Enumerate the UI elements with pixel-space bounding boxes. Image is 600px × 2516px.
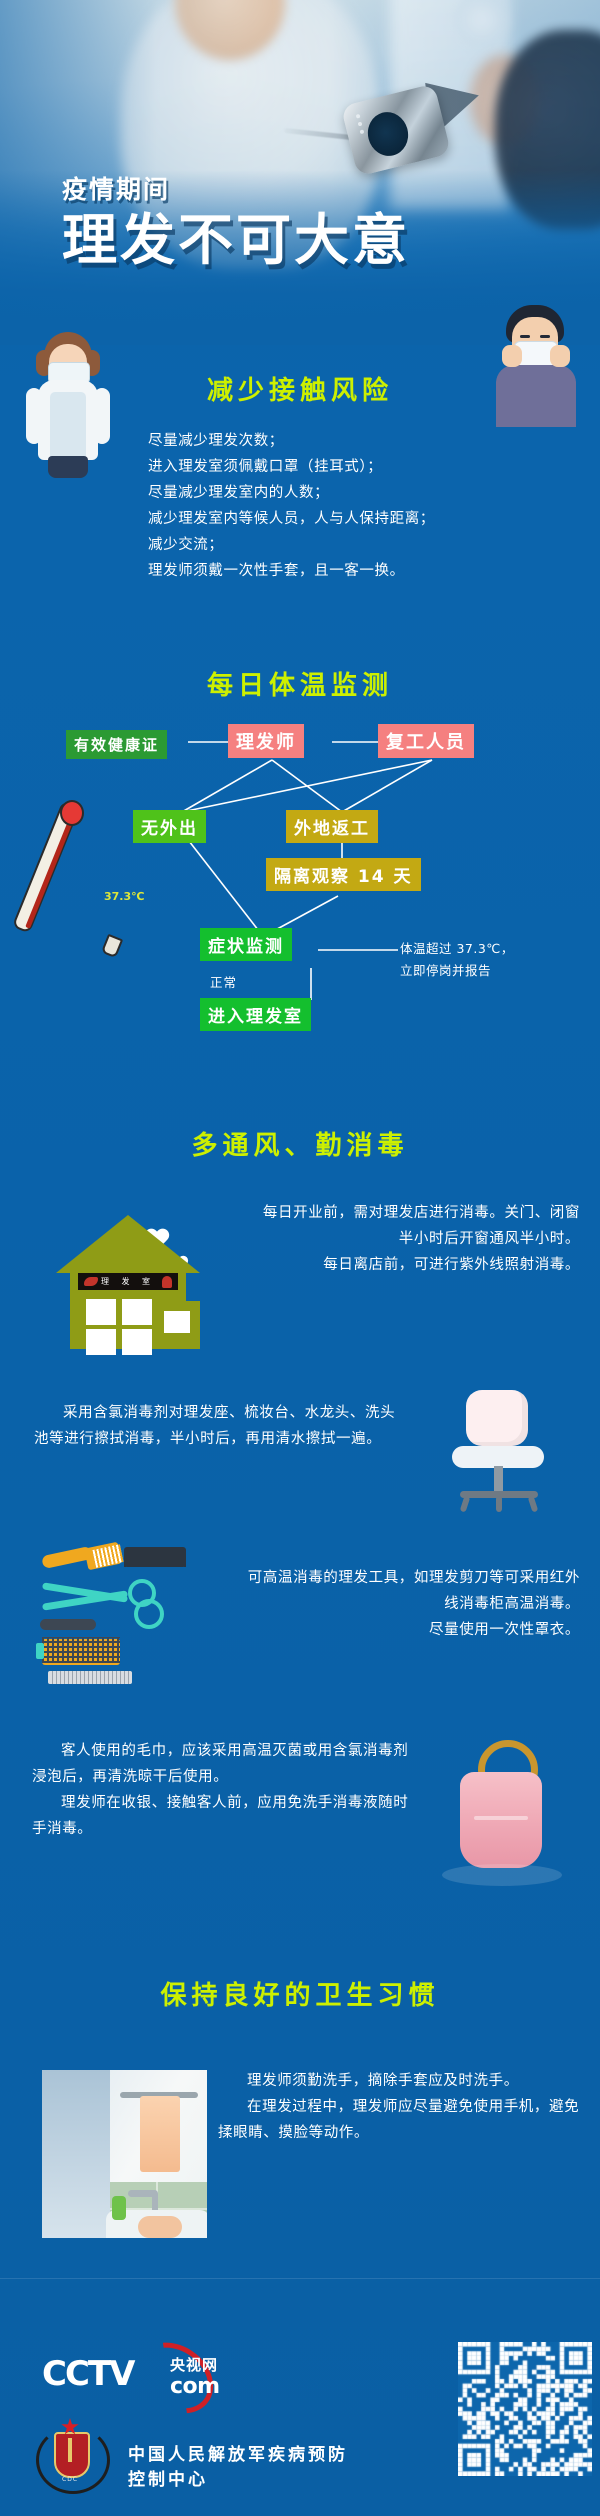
infographic-poster: 疫情期间 理发不可大意 减少接触风险 尽量减少理发次数； 进入理发室须佩戴口罩（… xyxy=(0,0,600,2516)
page-title: 理发不可大意 xyxy=(62,212,410,270)
temperature-flowchart: 有效健康证 理发师 复工人员 无外出 外地返工 隔离观察 14 天 症状监测 进… xyxy=(0,700,600,1020)
list-item: 理发师须戴一次性手套，且一客一换。 xyxy=(148,558,568,584)
section-heading-temperature: 每日体温监测 xyxy=(0,665,600,702)
list-item: 减少交流； xyxy=(148,532,568,558)
hygiene-paragraphs: 理发师须勤洗手，摘除手套应及时洗手。 在理发过程中，理发师应尽量避免使用手机，避… xyxy=(218,2068,580,2146)
reduce-contact-list: 尽量减少理发次数； 进入理发室须佩戴口罩（挂耳式）； 尽量减少理发室内的人数； … xyxy=(148,428,568,584)
man-wearing-mask-illustration xyxy=(488,305,584,425)
flow-node-barber: 理发师 xyxy=(228,724,304,758)
paragraph: 理发师在收银、接触客人前，应用免洗手消毒液随时手消毒。 xyxy=(32,1790,414,1842)
cctv-cn-label: 央视网 xyxy=(170,2354,218,2375)
cdc-emblem-icon: CDC xyxy=(34,2418,106,2492)
page-kicker: 疫情期间 xyxy=(62,170,410,206)
flow-node-enter-salon: 进入理发室 xyxy=(200,998,311,1031)
qr-code[interactable] xyxy=(458,2342,592,2476)
title-block: 疫情期间 理发不可大意 xyxy=(62,170,410,270)
list-item: 尽量减少理发次数； xyxy=(148,428,568,454)
footer-divider xyxy=(0,2278,600,2279)
list-item: 尽量减少理发室内的人数； xyxy=(148,480,568,506)
list-item: 进入理发室须佩戴口罩（挂耳式）； xyxy=(148,454,568,480)
flow-node-no-outing: 无外出 xyxy=(133,810,206,843)
flow-edge-label-normal: 正常 xyxy=(210,972,237,991)
list-item: 减少理发室内等候人员，人与人保持距离； xyxy=(148,506,568,532)
section-heading-reduce-contact: 减少接触风险 xyxy=(30,370,570,407)
disinfect-paragraph-2: 采用含氯消毒剂对理发座、梳妆台、水龙头、洗头池等进行擦拭消毒，半小时后，再用清水… xyxy=(34,1400,406,1452)
flow-node-quarantine-14-days: 隔离观察 14 天 xyxy=(266,858,421,891)
paragraph: 每日离店前，可进行紫外线照射消毒。 xyxy=(232,1252,580,1278)
handwashing-photo xyxy=(42,2070,207,2238)
flow-node-returnee: 复工人员 xyxy=(378,724,474,758)
paragraph: 理发师须勤洗手，摘除手套应及时洗手。 xyxy=(218,2068,580,2094)
flow-node-returned-from-elsewhere: 外地返工 xyxy=(286,810,378,843)
paragraph: 每日开业前，需对理发店进行消毒。关门、闭窗半小时后开窗通风半小时。 xyxy=(232,1200,580,1252)
section-heading-ventilate-disinfect: 多通风、勤消毒 xyxy=(0,1125,600,1162)
cdc-abbr: CDC xyxy=(54,2476,86,2483)
paragraph: 可高温消毒的理发工具，如理发剪刀等可采用红外线消毒柜高温消毒。 xyxy=(218,1565,580,1617)
paragraph: 尽量使用一次性罩衣。 xyxy=(218,1617,580,1643)
flow-node-cert: 有效健康证 xyxy=(66,730,167,759)
hero-banner: 疫情期间 理发不可大意 xyxy=(0,0,600,345)
disinfect-paragraph-1: 每日开业前，需对理发店进行消毒。关门、闭窗半小时后开窗通风半小时。 每日离店前，… xyxy=(232,1200,580,1278)
alert-note-line-1: 体温超过 37.3℃， xyxy=(400,938,580,960)
paragraph: 在理发过程中，理发师应尽量避免使用手机，避免揉眼睛、摸脸等动作。 xyxy=(218,2094,580,2146)
barbershop-house-icon: 理 发 室 xyxy=(48,1215,208,1350)
cdc-organization-name: 中国人民解放军疾病预防控制中心 xyxy=(128,2440,354,2490)
section-heading-hygiene: 保持良好的卫生习惯 xyxy=(0,1975,600,2012)
disinfect-paragraph-3: 可高温消毒的理发工具，如理发剪刀等可采用红外线消毒柜高温消毒。 尽量使用一次性罩… xyxy=(218,1565,580,1643)
thermometer-icon xyxy=(42,800,112,950)
salon-chair-icon xyxy=(430,1390,570,1515)
footer: CCTV 央视网 com CDC 中国人民解放军疾病预防控制中心 xyxy=(0,2290,600,2516)
towel-on-ring-icon xyxy=(420,1740,590,1900)
flow-alert-note: 体温超过 37.3℃， 立即停岗并报告 xyxy=(400,938,580,982)
barber-tools-icon xyxy=(36,1545,211,1690)
cctv-logo: CCTV 央视网 com xyxy=(42,2352,242,2404)
flow-node-symptom-monitoring: 症状监测 xyxy=(200,928,292,961)
disinfect-paragraph-4: 客人使用的毛巾，应该采用高温灭菌或用含氯消毒剂浸泡后，再清洗晾干后使用。 理发师… xyxy=(32,1738,414,1842)
alert-note-line-2: 立即停岗并报告 xyxy=(400,960,580,982)
cctv-com-label: com xyxy=(170,2374,220,2399)
pla-cdc-logo: CDC 中国人民解放军疾病预防控制中心 xyxy=(34,2418,354,2492)
thermometer-reading: 37.3℃ xyxy=(104,890,144,903)
paragraph: 采用含氯消毒剂对理发座、梳妆台、水龙头、洗头池等进行擦拭消毒，半小时后，再用清水… xyxy=(34,1400,406,1452)
shop-sign: 理 发 室 xyxy=(78,1273,178,1290)
paragraph: 客人使用的毛巾，应该采用高温灭菌或用含氯消毒剂浸泡后，再清洗晾干后使用。 xyxy=(32,1738,414,1790)
